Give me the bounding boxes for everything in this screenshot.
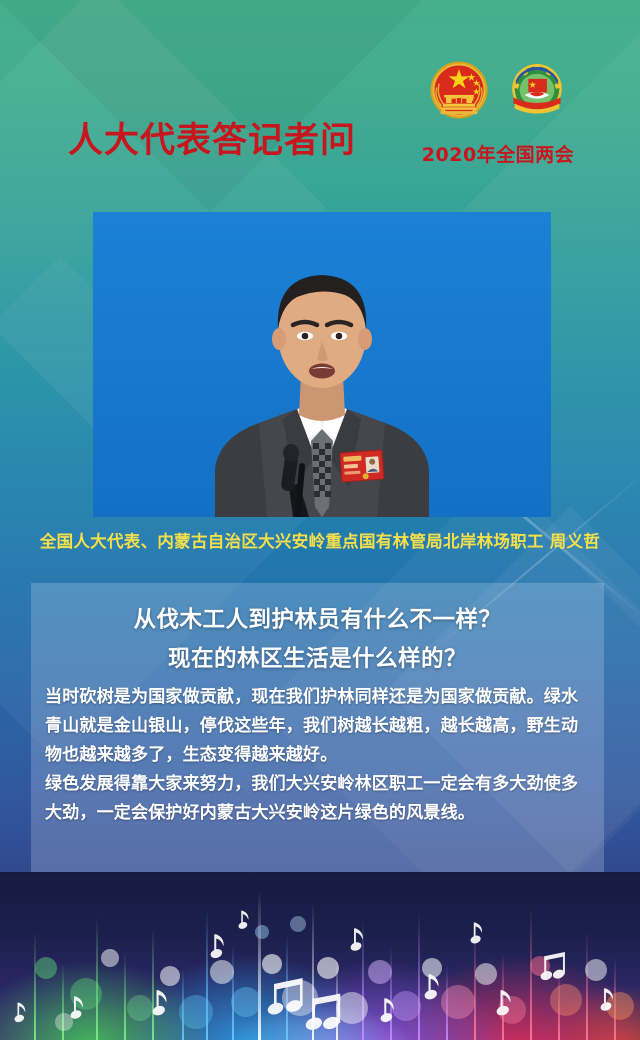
music-note-icon [13, 1003, 25, 1024]
music-note-icon [238, 911, 249, 930]
poster-header: 人大代表答记者问 [0, 0, 640, 200]
question-line-2: 现在的林区生活是什么样的？ [31, 641, 604, 673]
answer-paragraph: 绿色发展得靠大家来努力，我们大兴安岭林区职工一定会有多大劲使多大劲，一定会保护好… [45, 770, 590, 828]
answer-paragraph: 当时砍树是为国家做贡献，现在我们护林同样还是为国家做贡献。绿水青山就是金山银山，… [45, 683, 590, 770]
music-notes-banner [0, 872, 640, 1040]
quote-panel: 从伐木工人到护林员有什么不一样？ 现在的林区生活是什么样的？ 当时砍树是为国家做… [31, 583, 604, 879]
meeting-label: 2020年全国两会 [418, 140, 578, 167]
poster-root: 人大代表答记者问 [0, 0, 640, 1040]
speaker-photo [93, 212, 551, 517]
page-title: 人大代表答记者问 [68, 124, 356, 159]
banner-light-rays [0, 872, 640, 1040]
speaker-portrait-illustration [197, 257, 447, 517]
question-line-1: 从伐木工人到护林员有什么不一样？ [31, 602, 604, 634]
speaker-caption: 全国人大代表、内蒙古自治区大兴安岭重点国有林管局北岸林场职工 周义哲 [0, 528, 640, 552]
cppcc-emblem-icon [506, 59, 568, 121]
answer-body: 当时砍树是为国家做贡献，现在我们护林同样还是为国家做贡献。绿水青山就是金山银山，… [45, 683, 590, 828]
emblem-group [418, 58, 578, 122]
music-note-icon [209, 934, 223, 959]
music-note-icon [423, 974, 438, 1001]
national-emblem-prc-icon [428, 59, 490, 121]
music-note-icon [349, 928, 362, 952]
